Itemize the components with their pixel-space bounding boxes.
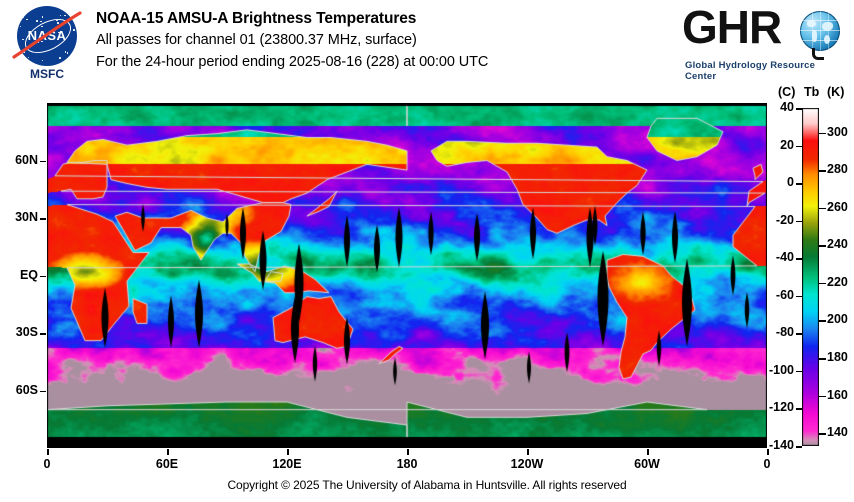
colorbar-kelvin-tick: 240 [827, 237, 848, 251]
colorbar-kelvin-tickmark [819, 433, 826, 435]
colorbar-celsius-tick: -120 [0, 400, 794, 414]
colorbar-kelvin-tick: 220 [827, 275, 848, 289]
colorbar-kelvin-tick: 260 [827, 200, 848, 214]
colorbar-celsius-unit: (C) [778, 85, 795, 99]
colorbar-quantity: Tb [804, 85, 819, 99]
colorbar-celsius-tickmark [796, 221, 802, 223]
colorbar-kelvin-tick: 160 [827, 388, 848, 402]
latitude-tickmark [40, 391, 46, 393]
colorbar-celsius-tick: 20 [0, 138, 794, 152]
latitude-tick-label: 60N [0, 153, 38, 167]
subtitle-period: For the 24-hour period ending 2025-08-16… [96, 51, 488, 73]
globe-icon [800, 11, 840, 51]
colorbar-celsius-tick: -60 [0, 288, 794, 302]
ghrc-wordmark: GHR [682, 4, 781, 50]
copyright-notice: Copyright © 2025 The University of Alaba… [0, 478, 854, 492]
colorbar-kelvin-tickmark [819, 396, 826, 398]
colorbar-kelvin-tickmark [819, 208, 826, 210]
latitude-tick-label: 60S [0, 383, 38, 397]
colorbar-celsius-tick: -140 [0, 438, 794, 452]
colorbar-celsius-tickmark [796, 108, 802, 110]
nasa-center-label: MSFC [8, 67, 86, 81]
colorbar-kelvin-tickmark [819, 170, 826, 172]
map-canvas[interactable] [47, 103, 767, 448]
brightness-temperature-map[interactable] [47, 103, 767, 448]
subtitle-channel: All passes for channel 01 (23800.37 MHz,… [96, 29, 488, 51]
colorbar-celsius-tickmark [796, 258, 802, 260]
colorbar-celsius-tickmark [796, 183, 802, 185]
colorbar-celsius-tickmark [796, 446, 802, 448]
colorbar-kelvin-tickmark [819, 320, 826, 322]
nasa-logo: NASA MSFC [8, 6, 86, 84]
longitude-tick-label: 120E [267, 457, 307, 471]
longitude-tick-label: 180 [387, 457, 427, 471]
colorbar-celsius-tickmark [796, 333, 802, 335]
colorbar-celsius-tickmark [796, 408, 802, 410]
colorbar-kelvin-tick: 180 [827, 350, 848, 364]
colorbar-celsius-tick: -20 [0, 213, 794, 227]
colorbar-kelvin-tick: 140 [827, 425, 848, 439]
colorbar-kelvin-tickmark [819, 283, 826, 285]
colorbar-celsius-tick: -100 [0, 363, 794, 377]
colorbar-celsius-tickmark [796, 146, 802, 148]
colorbar-celsius-tick: 0 [0, 175, 794, 189]
latitude-tickmark [40, 161, 46, 163]
colorbar-kelvin-tickmark [819, 358, 826, 360]
ghrc-tagline: Global Hydrology Resource Center [685, 60, 842, 82]
page-title: NOAA-15 AMSU-A Brightness Temperatures [96, 8, 488, 29]
colorbar-kelvin-tick: 200 [827, 312, 848, 326]
longitude-tick-label: 0 [747, 457, 787, 471]
colorbar-celsius-tick: -80 [0, 325, 794, 339]
ghrc-logo: GHR Global Hydrology Resource Center [682, 4, 842, 78]
colorbar-kelvin-tick: 280 [827, 162, 848, 176]
colorbar-kelvin-tick: 300 [827, 125, 848, 139]
colorbar-kelvin-tickmark [819, 245, 826, 247]
longitude-tick-label: 120W [507, 457, 547, 471]
colorbar-celsius-tick: 40 [0, 100, 794, 114]
colorbar[interactable] [802, 108, 819, 446]
colorbar-celsius-tickmark [796, 371, 802, 373]
colorbar-celsius-tick: -40 [0, 250, 794, 264]
nasa-swoosh-icon [10, 10, 84, 62]
latitude-tick-label: EQ [0, 268, 38, 282]
title-block: NOAA-15 AMSU-A Brightness Temperatures A… [96, 8, 488, 73]
longitude-tick-label: 60W [627, 457, 667, 471]
colorbar-kelvin-tickmark [819, 133, 826, 135]
longitude-tick-label: 60E [147, 457, 187, 471]
globe-stand [812, 48, 824, 60]
longitude-tick-label: 0 [27, 457, 67, 471]
colorbar-kelvin-unit: (K) [827, 85, 844, 99]
latitude-tickmark [40, 276, 46, 278]
colorbar-celsius-tickmark [796, 296, 802, 298]
colorbar-gradient [802, 108, 819, 446]
